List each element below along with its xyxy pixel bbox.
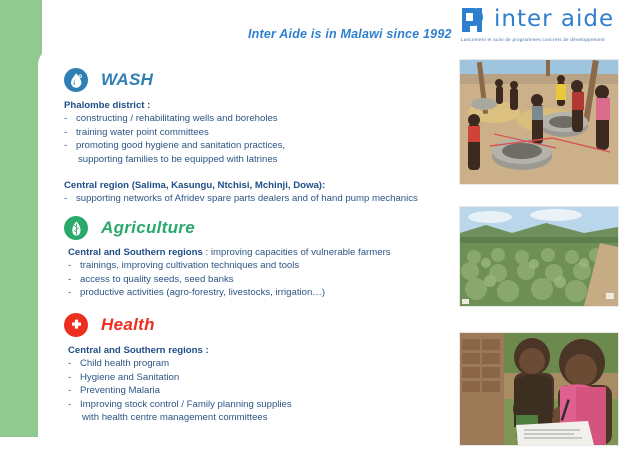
list-item: supporting networks of Afridev spare par… (76, 193, 418, 204)
list-item: Improving stock control / Family plannin… (80, 399, 292, 410)
inter-aide-logo: inter aide Lancement et suivi de program… (460, 4, 622, 48)
list-item: access to quality seeds, seed banks (80, 274, 234, 285)
list-item: training water point committees (76, 127, 209, 138)
bullet-dash: - (64, 192, 76, 205)
photo-cabbage-field (459, 206, 619, 307)
bullet-dash: - (64, 112, 76, 125)
inter-aide-tagline: Lancement et suivi de programmes concret… (461, 37, 605, 42)
green-accent-band (0, 0, 42, 437)
photo-well-construction (459, 59, 619, 185)
list-item: Child health program (80, 358, 169, 369)
bullet-dash: - (68, 357, 80, 370)
list-item: promoting good hygiene and sanitation pr… (76, 140, 285, 151)
list-item: constructing / rehabilitating wells and … (76, 113, 278, 124)
medical-cross-icon (64, 313, 88, 337)
list-item-continuation: with health centre management committees (82, 412, 268, 423)
list-item: Hygiene and Sanitation (80, 372, 179, 383)
bullet-dash: - (68, 259, 80, 272)
section-title-agriculture: Agriculture (101, 218, 195, 238)
slide-subtitle: Inter Aide is in Malawi since 1992 (248, 27, 452, 41)
bullet-dash: - (68, 371, 80, 384)
list-item: Preventing Malaria (80, 385, 160, 396)
section-title-wash: WASH (101, 70, 153, 90)
section-body-health: Central and Southern regions : -Child he… (68, 344, 292, 424)
wash-block2-lead: Central region (Salima, Kasungu, Ntchisi… (64, 180, 325, 191)
section-header-health: Health (64, 313, 155, 337)
wash-block1-lead: Phalombe district : (64, 100, 150, 111)
block-spacer (64, 166, 418, 179)
bullet-dash: - (68, 384, 80, 397)
health-block-lead: Central and Southern regions : (68, 345, 209, 356)
inter-aide-wordmark: inter aide (494, 6, 614, 32)
water-drop-icon (64, 68, 88, 92)
section-body-wash: Phalombe district : -constructing / reha… (64, 99, 418, 206)
bullet-dash: - (68, 398, 80, 411)
list-item-continuation: supporting families to be equipped with … (78, 154, 277, 165)
list-item: trainings, improving cultivation techniq… (80, 260, 299, 271)
section-body-agriculture: Central and Southern regions : improving… (68, 246, 391, 300)
section-header-wash: WASH (64, 68, 153, 92)
bullet-dash: - (68, 286, 80, 299)
photo-health-worker (459, 332, 619, 446)
inter-aide-logo-mark (460, 6, 486, 34)
bullet-dash: - (64, 126, 76, 139)
list-item: productive activities (agro-forestry, li… (80, 287, 325, 298)
agriculture-block-lead-rest: : improving capacities of vulnerable far… (203, 247, 391, 258)
agriculture-block-lead: Central and Southern regions (68, 247, 203, 258)
bullet-dash: - (68, 273, 80, 286)
bullet-dash: - (64, 139, 76, 152)
plant-leaf-icon (64, 216, 88, 240)
section-title-health: Health (101, 315, 155, 335)
section-header-agriculture: Agriculture (64, 216, 195, 240)
